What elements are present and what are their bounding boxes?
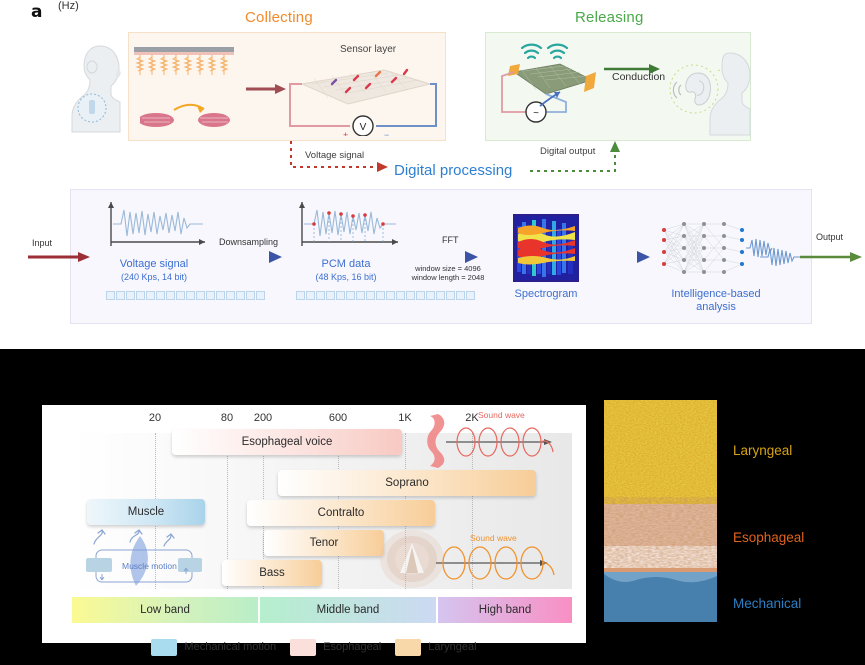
legend-item-mechanical-motion: Mechanical motion bbox=[151, 639, 276, 656]
digital-processing-label: Digital processing bbox=[394, 162, 512, 179]
voltage-signal-dotted-arrow-icon bbox=[286, 141, 392, 175]
pipeline-step-3-sub: analysis bbox=[660, 301, 772, 313]
svg-text:V: V bbox=[360, 122, 367, 133]
range-bar-label: Muscle bbox=[128, 506, 164, 518]
collect-transfer-arrow-icon bbox=[246, 82, 288, 96]
range-bar-label: Contralto bbox=[318, 507, 365, 519]
bit-cell bbox=[206, 291, 215, 300]
bit-cell bbox=[316, 291, 325, 300]
voltage-signal-waveform-plot bbox=[99, 200, 209, 252]
svg-text:Sound wave: Sound wave bbox=[478, 410, 525, 420]
bit-cell bbox=[296, 291, 305, 300]
bit-cell bbox=[346, 291, 355, 300]
bit-cell bbox=[396, 291, 405, 300]
bit-cell bbox=[466, 291, 475, 300]
range-bar-esophageal-voice: Esophageal voice bbox=[172, 429, 402, 455]
panel-a-schematic: a Collecting Releasing Sensor layer bbox=[0, 0, 865, 349]
conduction-arrow-icon bbox=[604, 62, 664, 76]
fft-arrow-icon bbox=[414, 250, 480, 264]
legend-label: Esophageal bbox=[323, 641, 381, 653]
range-bar-tenor: Tenor bbox=[264, 530, 384, 556]
bit-cell bbox=[106, 291, 115, 300]
legend-item-laryngeal: Laryngeal bbox=[395, 639, 476, 656]
actuator-sheet-illustration: ~ bbox=[498, 40, 610, 136]
bit-cell bbox=[126, 291, 135, 300]
legend-item-esophageal: Esophageal bbox=[290, 639, 381, 656]
legend-label: Mechanical motion bbox=[184, 641, 276, 653]
bit-cell bbox=[226, 291, 235, 300]
bit-cell bbox=[136, 291, 145, 300]
bit-cell bbox=[386, 291, 395, 300]
analysis-arrow-icon bbox=[590, 250, 652, 264]
range-bar-bass: Bass bbox=[222, 560, 322, 586]
bit-cell bbox=[166, 291, 175, 300]
frequency-axis-unit-label: (Hz) bbox=[58, 0, 79, 12]
laryngeal-sound-wave-annotation: Sound wave bbox=[378, 527, 566, 589]
svg-text:~: ~ bbox=[533, 108, 539, 119]
svg-text:Muscle motion: Muscle motion bbox=[122, 561, 177, 571]
sensor-sheet-circuit: V + − bbox=[288, 54, 438, 136]
human-head-left-icon bbox=[62, 40, 124, 135]
band-low: Low band bbox=[72, 597, 258, 623]
svg-text:Sound wave: Sound wave bbox=[470, 533, 517, 543]
spectrogram-thumbnail bbox=[513, 214, 579, 282]
muscle-motion-annotation: Muscle motion bbox=[82, 528, 212, 588]
bit-cell bbox=[236, 291, 245, 300]
bit-cell bbox=[156, 291, 165, 300]
axis-tick-2: 200 bbox=[254, 412, 272, 424]
fft-arrow-label: FFT bbox=[442, 235, 459, 245]
pcm-data-waveform-plot bbox=[290, 200, 402, 252]
pipeline-step-1-sub: (48 Kps, 16 bit) bbox=[296, 272, 396, 282]
band-label: Middle band bbox=[317, 604, 380, 616]
bit-cell bbox=[256, 291, 265, 300]
bit-cell bbox=[416, 291, 425, 300]
legend-swatch-esophageal bbox=[290, 639, 316, 656]
axis-tick-0: 20 bbox=[149, 412, 161, 424]
bit-cell bbox=[306, 291, 315, 300]
pipeline-step-3-title: Intelligence-based bbox=[660, 288, 772, 300]
strip-label-esophageal: Esophageal bbox=[733, 530, 804, 545]
pipeline-step-2-title: Spectrogram bbox=[506, 288, 586, 300]
collecting-section-title: Collecting bbox=[245, 9, 313, 26]
bit-cell bbox=[176, 291, 185, 300]
range-bar-contralto: Contralto bbox=[247, 500, 435, 526]
chart-legend: Mechanical motion Esophageal Laryngeal bbox=[42, 636, 586, 658]
legend-swatch-laryngeal bbox=[395, 639, 421, 656]
strip-label-laryngeal: Laryngeal bbox=[733, 443, 792, 458]
bit-cell bbox=[336, 291, 345, 300]
svg-text:+: + bbox=[343, 130, 348, 136]
pipeline-input-arrow-icon bbox=[28, 250, 92, 264]
pipeline-output-label: Output bbox=[816, 232, 843, 242]
range-bar-label: Bass bbox=[259, 567, 285, 579]
ear-and-head-right-icon bbox=[668, 45, 754, 137]
bit-cell bbox=[246, 291, 255, 300]
esophageal-sound-wave-annotation: Sound wave bbox=[422, 408, 560, 470]
fft-window-length-note: window length = 2048 bbox=[409, 273, 487, 283]
fiber-array-illustration bbox=[132, 47, 237, 95]
axis-tick-1: 80 bbox=[221, 412, 233, 424]
pipeline-step-0-title: Voltage signal bbox=[104, 258, 204, 270]
panel-letter-label: a bbox=[31, 2, 42, 22]
bit-cell bbox=[446, 291, 455, 300]
axis-tick-4: 1K bbox=[398, 412, 411, 424]
range-bar-label: Tenor bbox=[310, 537, 339, 549]
band-label: High band bbox=[479, 604, 531, 616]
pipeline-input-label: Input bbox=[32, 238, 52, 248]
strip-label-mechanical: Mechanical bbox=[733, 596, 801, 611]
bit-cell bbox=[146, 291, 155, 300]
pipeline-output-arrow-icon bbox=[760, 244, 864, 266]
band-label: Low band bbox=[140, 604, 190, 616]
band-high: High band bbox=[438, 597, 572, 623]
bit-cell bbox=[326, 291, 335, 300]
legend-label: Laryngeal bbox=[428, 641, 476, 653]
pipeline-step-0-sub: (240 Kps, 14 bit) bbox=[104, 272, 204, 282]
digital-output-dotted-arrow-icon bbox=[527, 141, 623, 175]
releasing-section-title: Releasing bbox=[575, 9, 644, 26]
tissue-spectrogram-strip bbox=[604, 400, 717, 622]
axis-tick-3: 600 bbox=[329, 412, 347, 424]
pipeline-step-1-bitstrip bbox=[296, 291, 475, 300]
bit-cell bbox=[186, 291, 195, 300]
bit-cell bbox=[426, 291, 435, 300]
neural-network-diagram bbox=[658, 218, 774, 280]
range-bar-muscle: Muscle bbox=[87, 499, 205, 525]
bit-cell bbox=[376, 291, 385, 300]
pipeline-step-0-bitstrip bbox=[106, 291, 265, 300]
legend-swatch-mechanical bbox=[151, 639, 177, 656]
downsampling-arrow-label: Downsampling bbox=[219, 237, 278, 247]
pipeline-step-1-title: PCM data bbox=[296, 258, 396, 270]
bit-cell bbox=[216, 291, 225, 300]
band-middle: Middle band bbox=[260, 597, 436, 623]
bit-cell bbox=[196, 291, 205, 300]
range-bar-label: Esophageal voice bbox=[242, 436, 333, 448]
tissue-deformation-illustration bbox=[140, 98, 236, 128]
range-bar-label: Soprano bbox=[385, 477, 428, 489]
downsampling-arrow-icon bbox=[222, 250, 284, 264]
bit-cell bbox=[456, 291, 465, 300]
bit-cell bbox=[116, 291, 125, 300]
bit-cell bbox=[366, 291, 375, 300]
range-bar-soprano: Soprano bbox=[278, 470, 536, 496]
bit-cell bbox=[436, 291, 445, 300]
svg-text:−: − bbox=[384, 130, 389, 136]
bit-cell bbox=[356, 291, 365, 300]
bit-cell bbox=[406, 291, 415, 300]
